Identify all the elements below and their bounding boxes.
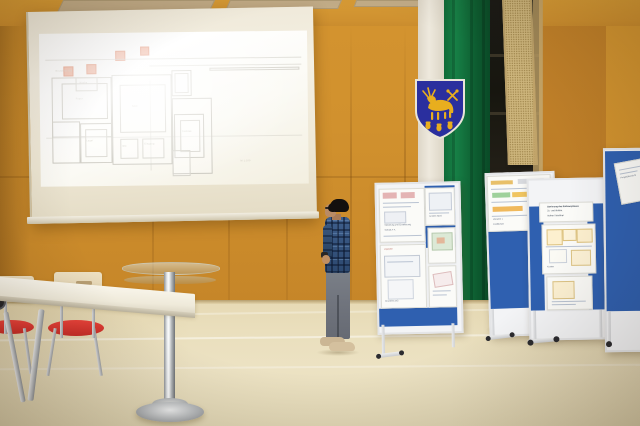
plan-title: Grundriss EG xyxy=(55,69,72,72)
banner-fold xyxy=(470,0,473,318)
plan-guideline xyxy=(209,67,299,71)
sheet-line xyxy=(429,212,449,213)
scene-root: Foyer Saal WC Technik Lager Küche Eingan… xyxy=(0,0,640,426)
board-sheet[interactable]: Sanierung und Erweiterung Schnitt A-A xyxy=(379,188,426,243)
plan-room xyxy=(142,138,164,158)
sheet-plan xyxy=(387,279,413,300)
plan-label: Saal xyxy=(132,105,138,108)
board-caption: Variante 1 xyxy=(493,219,503,222)
sheet-plan xyxy=(384,211,406,223)
sheet-plan xyxy=(571,250,591,266)
sheet-plan xyxy=(552,281,574,299)
plan-room xyxy=(174,73,188,93)
sheet-line xyxy=(383,202,419,203)
banner-fold xyxy=(482,0,485,318)
projected-floor-plan: Foyer Saal WC Technik Lager Küche Eingan… xyxy=(39,31,309,187)
board-stand-leg xyxy=(533,311,537,343)
acoustic-panel-edge xyxy=(533,0,543,172)
board-sheet[interactable] xyxy=(427,227,456,264)
plan-room xyxy=(120,84,167,133)
sheet-building xyxy=(437,237,445,243)
board-stand-leg xyxy=(599,309,602,337)
board-caption: Projektübersicht xyxy=(620,175,636,181)
board-sheet[interactable]: Kosten xyxy=(541,223,596,274)
coat-of-arms-shield xyxy=(414,78,466,140)
board-stand-caster xyxy=(606,341,612,347)
person-hand xyxy=(322,255,330,264)
sheet-plan xyxy=(433,271,454,288)
presentation-board-1[interactable]: Sanierung und Erweiterung Schnitt A-A An… xyxy=(374,181,459,331)
chair-leg xyxy=(46,328,56,376)
sheet-line xyxy=(433,294,447,295)
sheet-plan xyxy=(547,229,563,245)
projection-screen: Foyer Saal WC Technik Lager Küche Eingan… xyxy=(26,7,315,224)
board-stand-leg xyxy=(381,325,385,355)
plan-guideline xyxy=(45,57,301,61)
board-caption: Sanierung und Erweiterung xyxy=(384,224,411,227)
presentation-board-3[interactable]: Sanierung des Rathausplatzes Zu- und Abf… xyxy=(527,177,608,336)
plan-label: WC xyxy=(122,145,126,148)
sheet-line xyxy=(433,290,451,291)
plan-legend-marker xyxy=(86,64,96,74)
sheet-block xyxy=(491,180,513,185)
wall-shadow xyxy=(0,26,30,316)
board-caption: Kosten xyxy=(547,266,554,269)
plan-room xyxy=(52,121,81,163)
board-caption: Freiflächen xyxy=(493,223,504,226)
board-stand-caster xyxy=(399,350,404,355)
board-sheet[interactable] xyxy=(428,265,457,308)
board-stand-leg xyxy=(608,311,611,343)
board-backing xyxy=(379,307,457,327)
folding-table xyxy=(0,285,205,320)
sheet-plan xyxy=(577,229,593,243)
sheet-line xyxy=(383,206,411,207)
board-caption: Lageplan xyxy=(384,249,393,252)
plan-room xyxy=(172,150,190,176)
plan-scale: M 1:100 xyxy=(241,159,251,162)
sheet-plan xyxy=(549,249,567,263)
sheet-line xyxy=(546,246,592,247)
person-shoe xyxy=(329,342,355,351)
board-sheet[interactable]: Ansicht Nord xyxy=(425,187,456,226)
plan-label: Technik xyxy=(182,130,192,133)
sheet-plan xyxy=(563,229,577,241)
board-stand-caster xyxy=(376,354,381,359)
bistro-table-base xyxy=(136,402,204,422)
plan-legend-marker xyxy=(140,46,149,55)
board-caption: Ansicht Nord xyxy=(429,215,442,218)
person-hair-front xyxy=(328,203,336,212)
plan-label: Lager xyxy=(86,139,93,142)
sheet-block xyxy=(383,192,397,198)
board-title-sheet[interactable]: Sanierung des Rathausplatzes Zu- und Abf… xyxy=(539,202,593,223)
board-caption: Sanierung des Rathausplatzes xyxy=(547,205,579,208)
plan-room xyxy=(180,120,200,152)
board-caption: Schnitt A-A xyxy=(384,229,395,232)
sheet-line xyxy=(384,235,422,236)
plan-room xyxy=(85,129,107,157)
sheet-line xyxy=(552,301,586,302)
board-caption: Vorher / Nachher xyxy=(547,215,564,218)
board-stand-caster xyxy=(527,340,533,346)
plan-label: Eingang xyxy=(144,142,154,145)
sheet-line xyxy=(620,170,638,174)
board-stand-caster xyxy=(553,336,559,342)
sheet-plan xyxy=(429,192,452,210)
sheet-block xyxy=(401,192,415,198)
plan-room xyxy=(120,139,138,159)
presenter-person xyxy=(312,199,358,359)
board-sheet[interactable]: Lageplan Grundriss OG xyxy=(380,244,427,309)
sheet-line xyxy=(552,304,576,305)
board-stand-leg xyxy=(451,323,455,347)
plan-label: Küche xyxy=(80,81,88,84)
sheet-plan xyxy=(384,255,420,278)
board-sheet[interactable] xyxy=(546,276,593,311)
person-leg-seam xyxy=(337,295,339,339)
sheet-block xyxy=(493,206,523,212)
sheet-block xyxy=(492,192,510,198)
plan-label: Foyer xyxy=(76,97,83,100)
presentation-board-4[interactable]: Projektübersicht xyxy=(603,148,640,348)
board-caption: Grundriss OG xyxy=(385,300,399,303)
board-caption: Zu- und Abfahrt xyxy=(547,210,562,213)
